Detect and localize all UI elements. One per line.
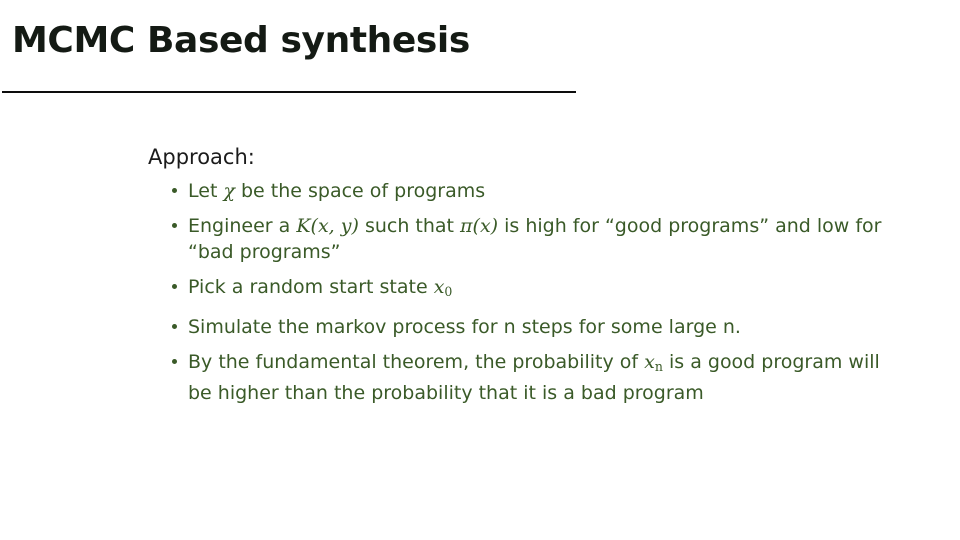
list-item: Pick a random start state x0	[148, 274, 908, 305]
bullet-text: Engineer a K(x, y) such that π(x) is hig…	[188, 213, 908, 265]
math-expression: K(x, y)	[296, 215, 359, 237]
bullet-dot-icon	[172, 324, 177, 329]
approach-heading: Approach:	[148, 144, 908, 170]
bullet-text: Let χ be the space of programs	[188, 178, 908, 204]
list-item: Engineer a K(x, y) such that π(x) is hig…	[148, 213, 908, 265]
math-subscript: n	[655, 359, 663, 374]
math-expression: π(x)	[460, 215, 498, 237]
title-block: MCMC Based synthesis	[0, 18, 600, 98]
title-underline-rule	[2, 91, 576, 93]
math-expression: χ	[223, 180, 235, 202]
bullet-dot-icon	[172, 359, 177, 364]
math-expression: xn	[644, 351, 663, 373]
page-title: MCMC Based synthesis	[12, 18, 470, 64]
bullet-dot-icon	[172, 223, 177, 228]
bullet-text: By the fundamental theorem, the probabil…	[188, 349, 908, 406]
math-expression: x0	[434, 276, 453, 298]
bullet-dot-icon	[172, 284, 177, 289]
bullet-text: Simulate the markov process for n steps …	[188, 314, 908, 340]
bullet-text: Pick a random start state x0	[188, 274, 908, 305]
list-item: Simulate the markov process for n steps …	[148, 314, 908, 340]
bullet-list: Let χ be the space of programs Engineer …	[148, 178, 908, 406]
list-item: Let χ be the space of programs	[148, 178, 908, 204]
bullet-dot-icon	[172, 188, 177, 193]
list-item: By the fundamental theorem, the probabil…	[148, 349, 908, 406]
slide-body: Approach: Let χ be the space of programs…	[148, 144, 908, 406]
math-subscript: 0	[444, 284, 452, 299]
slide-canvas: MCMC Based synthesis Approach: Let χ be …	[0, 0, 960, 540]
